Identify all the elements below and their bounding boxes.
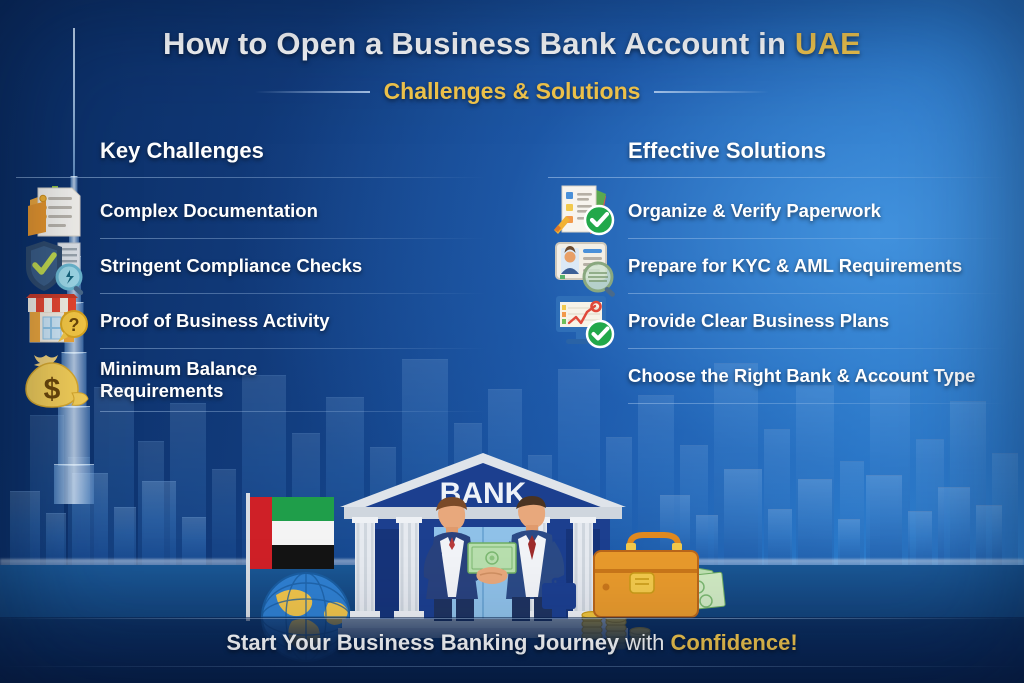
subtitle-rule-right	[654, 91, 769, 93]
checklist-approved-icon	[552, 180, 618, 242]
solution-item-1-label: Organize & Verify Paperwork	[628, 200, 881, 222]
footer-text-with: with	[625, 630, 670, 655]
id-card-magnifier-icon	[552, 235, 618, 297]
page-title: How to Open a Business Bank Account in U…	[0, 26, 1024, 62]
solution-item-2-label: Prepare for KYC & AML Requirements	[628, 255, 962, 277]
handshake-hands	[476, 567, 507, 584]
footer-rule-bottom	[0, 666, 1024, 667]
challenge-item-1[interactable]: Complex Documentation	[16, 184, 486, 238]
footer-rule-top	[0, 618, 1024, 619]
footer-text-lead: Start Your Business Banking Journey	[226, 630, 625, 655]
subtitle-rule-left	[255, 91, 370, 93]
documents-folder-icon	[24, 180, 90, 242]
challenge-item-3[interactable]: ? Proof of Business Activity	[16, 294, 486, 348]
page-subtitle: Challenges & Solutions	[384, 78, 641, 105]
solution-item-1[interactable]: Organize & Verify Paperwork	[548, 184, 1008, 238]
challenge-item-2-label: Stringent Compliance Checks	[100, 255, 362, 277]
challenges-heading-rule	[16, 177, 486, 178]
challenge-item-3-label: Proof of Business Activity	[100, 310, 330, 332]
solutions-heading: Effective Solutions	[548, 138, 1008, 164]
solution-item-3[interactable]: Provide Clear Business Plans	[548, 294, 1008, 348]
infographic-canvas: How to Open a Business Bank Account in U…	[0, 0, 1024, 683]
monitor-chart-approved-icon	[552, 290, 618, 352]
storefront-question-icon: ?	[24, 290, 90, 352]
challenge-item-2[interactable]: Stringent Compliance Checks	[16, 239, 486, 293]
shield-check-magnifier-icon	[24, 235, 90, 297]
challenge-item-1-label: Complex Documentation	[100, 200, 318, 222]
footer-text-highlight: Confidence!	[671, 630, 798, 655]
challenges-column: Key Challenges	[16, 138, 486, 412]
footer-tagline: Start Your Business Banking Journey with…	[0, 630, 1024, 656]
businessmen-handshake	[406, 491, 586, 621]
svg-text:?: ?	[69, 315, 80, 335]
page-title-highlight: UAE	[795, 26, 861, 61]
small-briefcase	[542, 583, 576, 609]
solutions-heading-rule	[548, 177, 1008, 178]
subtitle-row: Challenges & Solutions	[0, 78, 1024, 105]
challenges-heading: Key Challenges	[16, 138, 486, 164]
solution-item-3-label: Provide Clear Business Plans	[628, 310, 889, 332]
solution-item-2[interactable]: Prepare for KYC & AML Requirements	[548, 239, 1008, 293]
solutions-column: Effective Solutions	[548, 138, 1008, 404]
page-title-main: How to Open a Business Bank Account in	[163, 26, 795, 61]
